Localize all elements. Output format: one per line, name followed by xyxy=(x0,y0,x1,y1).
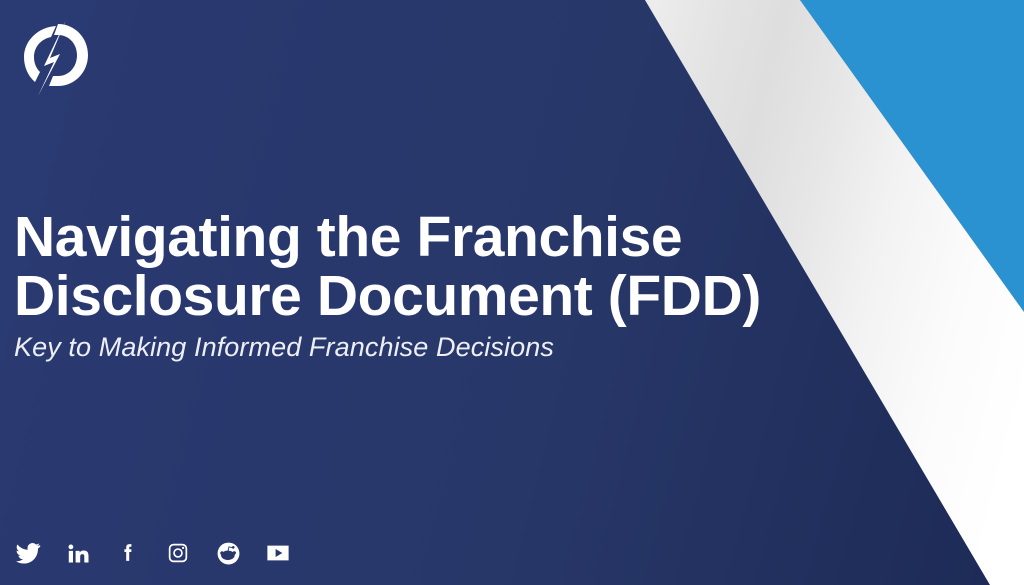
facebook-icon[interactable] xyxy=(114,539,142,567)
reddit-icon[interactable] xyxy=(214,539,242,567)
instagram-icon[interactable] xyxy=(164,539,192,567)
social-links-bar xyxy=(14,539,292,567)
youtube-icon[interactable] xyxy=(264,539,292,567)
brand-logo-icon xyxy=(18,18,94,98)
page-subtitle: Key to Making Informed Franchise Decisio… xyxy=(14,333,814,363)
linkedin-icon[interactable] xyxy=(64,539,92,567)
twitter-icon[interactable] xyxy=(14,539,42,567)
title-slide: Navigating the Franchise Disclosure Docu… xyxy=(0,0,1024,585)
title-block: Navigating the Franchise Disclosure Docu… xyxy=(14,208,814,363)
page-title: Navigating the Franchise Disclosure Docu… xyxy=(14,208,814,325)
